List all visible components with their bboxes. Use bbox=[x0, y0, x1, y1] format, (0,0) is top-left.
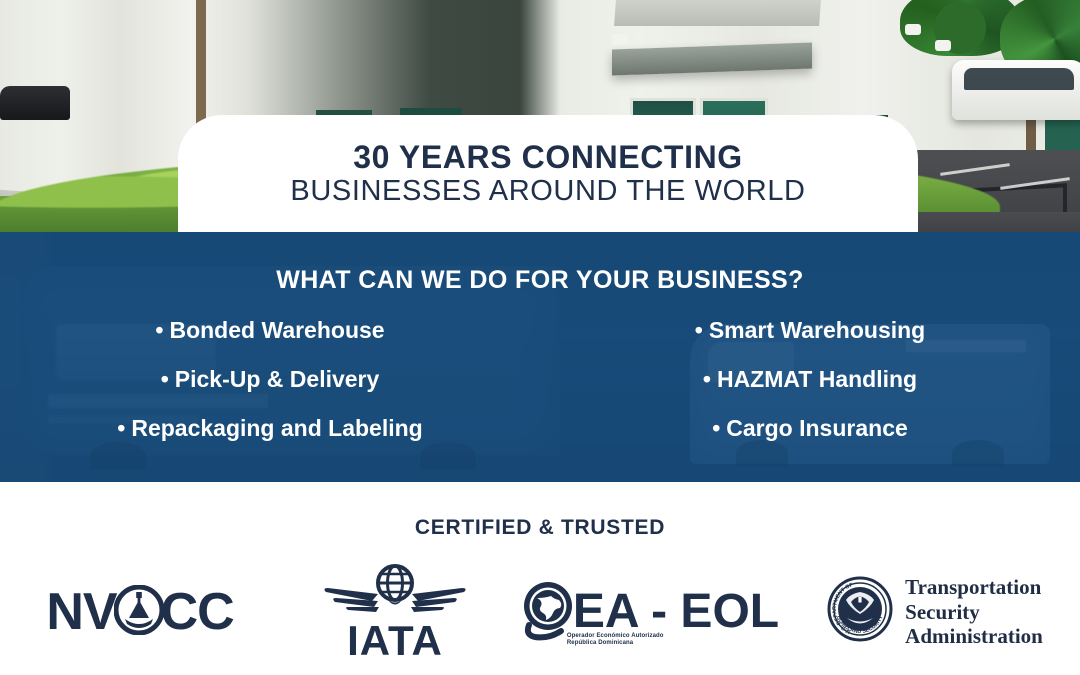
oea-subtext: Operador Económico Autorizado República … bbox=[567, 633, 664, 648]
ship-in-circle-icon bbox=[114, 585, 164, 640]
photo-dark-car bbox=[0, 86, 70, 120]
nvocc-text-right: CC bbox=[161, 586, 234, 638]
logo-oea-eol[interactable]: EA - EOL Operador Económico Autorizado R… bbox=[510, 579, 790, 646]
service-label: Bonded Warehouse bbox=[169, 317, 384, 343]
certifications-title: CERTIFIED & TRUSTED bbox=[0, 516, 1080, 540]
service-item-bonded-warehouse[interactable]: •Bonded Warehouse bbox=[155, 317, 384, 344]
service-item-hazmat-handling[interactable]: •HAZMAT Handling bbox=[703, 366, 917, 393]
services-band: WHAT CAN WE DO FOR YOUR BUSINESS? •Bonde… bbox=[0, 232, 1080, 482]
oea-text: EA - EOL bbox=[573, 588, 779, 636]
services-column-left: •Bonded Warehouse •Pick-Up & Delivery •R… bbox=[0, 317, 540, 442]
logo-nvocc[interactable]: NV CC bbox=[0, 585, 280, 640]
service-label: Smart Warehousing bbox=[709, 317, 925, 343]
certification-logos: NV CC bbox=[0, 552, 1080, 672]
certifications-section: CERTIFIED & TRUSTED NV CC bbox=[0, 482, 1080, 675]
service-item-smart-warehousing[interactable]: •Smart Warehousing bbox=[695, 317, 925, 344]
service-label: Repackaging and Labeling bbox=[131, 415, 422, 441]
services-column-right: •Smart Warehousing •HAZMAT Handling •Car… bbox=[540, 317, 1080, 442]
bullet-icon: • bbox=[155, 317, 163, 343]
service-item-cargo-insurance[interactable]: •Cargo Insurance bbox=[712, 415, 908, 442]
services-title: WHAT CAN WE DO FOR YOUR BUSINESS? bbox=[276, 266, 804, 295]
bullet-icon: • bbox=[117, 415, 125, 441]
tsa-wordmark: Transportation Security Administration bbox=[905, 575, 1043, 648]
bullet-icon: • bbox=[712, 415, 720, 441]
service-label: Cargo Insurance bbox=[726, 415, 908, 441]
oea-subtext-line-2: República Dominicana bbox=[567, 640, 664, 648]
service-label: Pick-Up & Delivery bbox=[175, 366, 380, 392]
dhs-seal-icon: U.S. DEPARTMENT OF HOMELAND SECURITY bbox=[827, 576, 893, 647]
logo-iata[interactable]: IATA bbox=[280, 564, 510, 661]
headline-card: 30 YEARS CONNECTING BUSINESSES AROUND TH… bbox=[178, 115, 918, 233]
logo-tsa[interactable]: U.S. DEPARTMENT OF HOMELAND SECURITY Tra… bbox=[790, 575, 1080, 648]
tsa-line-2: Security bbox=[905, 600, 1043, 624]
bullet-icon: • bbox=[161, 366, 169, 392]
photo-white-suv bbox=[952, 60, 1080, 120]
photo-lamp-2 bbox=[905, 24, 921, 35]
services-content: WHAT CAN WE DO FOR YOUR BUSINESS? •Bonde… bbox=[0, 232, 1080, 482]
photo-canopy-shade bbox=[614, 0, 821, 26]
oea-subtext-line-1: Operador Económico Autorizado bbox=[567, 633, 664, 641]
tsa-line-1: Transportation bbox=[905, 575, 1043, 599]
bullet-icon: • bbox=[695, 317, 703, 343]
iata-text: IATA bbox=[347, 621, 443, 661]
service-item-repackaging-labeling[interactable]: •Repackaging and Labeling bbox=[117, 415, 422, 442]
winged-globe-icon bbox=[322, 564, 468, 625]
bullet-icon: • bbox=[703, 366, 711, 392]
photo-lamp-1 bbox=[612, 34, 628, 45]
nvocc-text-left: NV bbox=[46, 586, 116, 638]
service-label: HAZMAT Handling bbox=[717, 366, 917, 392]
marketing-poster: 30 YEARS CONNECTING BUSINESSES AROUND TH… bbox=[0, 0, 1080, 675]
headline-line-2: BUSINESSES AROUND THE WORLD bbox=[290, 176, 805, 208]
service-item-pickup-delivery[interactable]: •Pick-Up & Delivery bbox=[161, 366, 380, 393]
photo-lamp-3 bbox=[935, 40, 951, 51]
services-columns: •Bonded Warehouse •Pick-Up & Delivery •R… bbox=[0, 317, 1080, 442]
tsa-line-3: Administration bbox=[905, 624, 1043, 648]
headline-line-1: 30 YEARS CONNECTING bbox=[353, 140, 743, 175]
